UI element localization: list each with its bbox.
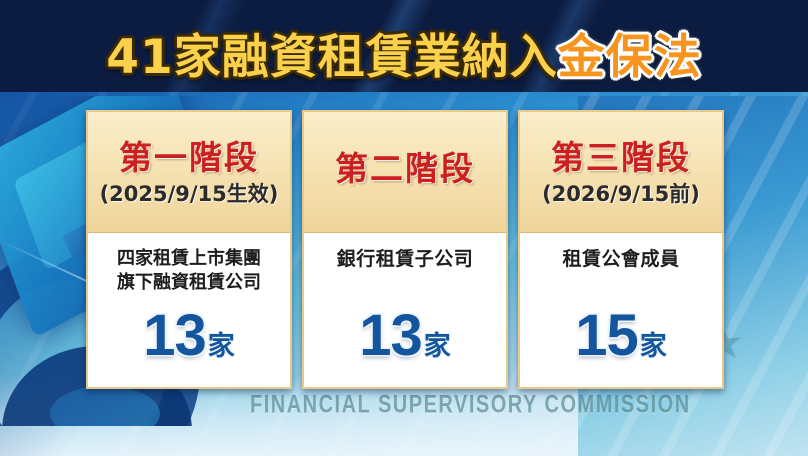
stage-card-2-count-number: 13: [359, 307, 422, 365]
stage-card-1-desc-line-2: 旗下融資租賃公司: [117, 271, 261, 295]
stage-card-2-count-unit: 家: [424, 324, 451, 363]
stage-card-1-date: (2025/9/15生效): [100, 183, 279, 206]
stage-card-2-title: 第二階段: [335, 151, 475, 187]
stage-card-3-date: (2026/9/15前): [542, 183, 700, 206]
stage-card-1-count-unit: 家: [208, 324, 235, 363]
stage-card-3-count-number: 15: [575, 307, 638, 365]
stage-card-3-desc-line-1: 租賃公會成員: [562, 247, 679, 272]
stage-card-2: 第二階段 銀行租賃子公司 13 家: [302, 110, 508, 389]
stage-card-1-title: 第一階段: [119, 140, 259, 176]
stage-card-3-body: 租賃公會成員 15 家: [520, 233, 722, 387]
stage-card-1-count: 13 家: [143, 307, 235, 365]
stage-card-3-title: 第三階段: [551, 140, 691, 176]
page-title-highlight: 金保法: [558, 30, 702, 85]
stage-card-2-body: 銀行租賃子公司 13 家: [304, 233, 506, 387]
stage-card-3: 第三階段 (2026/9/15前) 租賃公會成員 15 家: [518, 110, 724, 389]
stage-card-3-header: 第三階段 (2026/9/15前): [520, 112, 722, 233]
page-title: 41家融資租賃業納入金保法: [0, 28, 808, 88]
stage-card-1: 第一階段 (2025/9/15生效) 四家租賃上市集團 旗下融資租賃公司 13 …: [86, 110, 292, 389]
stage-card-1-header: 第一階段 (2025/9/15生效): [88, 112, 290, 233]
stage-card-2-desc-line-1: 銀行租賃子公司: [337, 247, 474, 272]
stage-card-3-count: 15 家: [575, 307, 667, 365]
stage-card-2-count: 13 家: [359, 307, 451, 365]
stage-card-1-desc-line-1: 四家租賃上市集團: [117, 247, 261, 271]
fsc-watermark-text: FINANCIAL SUPERVISORY COMMISSION: [250, 391, 790, 420]
stage-card-group: 第一階段 (2025/9/15生效) 四家租賃上市集團 旗下融資租賃公司 13 …: [86, 110, 724, 389]
stage-card-3-count-unit: 家: [640, 324, 667, 363]
page-title-main: 41家融資租賃業納入: [106, 30, 557, 85]
stage-card-1-count-number: 13: [143, 307, 206, 365]
stage-card-2-header: 第二階段: [304, 112, 506, 233]
stage-card-1-body: 四家租賃上市集團 旗下融資租賃公司 13 家: [88, 233, 290, 387]
